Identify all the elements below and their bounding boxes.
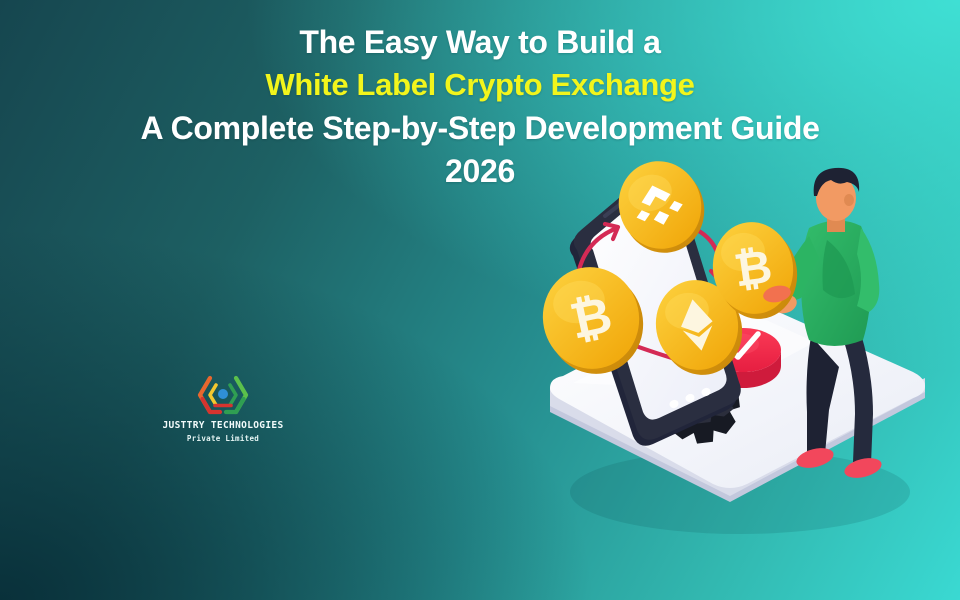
svg-text:₿: ₿ [731, 239, 776, 298]
logo-company-suffix: Private Limited [148, 434, 298, 443]
company-logo: JUSTTRY TECHNOLOGIES Private Limited [148, 374, 298, 443]
isometric-crypto-exchange-illustration: ₿ [525, 140, 960, 540]
headline-line-3: A Complete Step-by-Step Development Guid… [40, 112, 920, 144]
logo-company-name: JUSTTRY TECHNOLOGIES [148, 420, 298, 431]
bitcoin-held-glyph: ₿ [731, 239, 776, 298]
illustration-svg: ₿ [525, 140, 960, 540]
person-ear [844, 194, 854, 206]
headline-line-1: The Easy Way to Build a [40, 26, 920, 58]
headline-line-4-year: 2026 [40, 155, 920, 187]
headline-line-2-highlight: White Label Crypto Exchange [40, 69, 920, 100]
justtry-hex-bracket-logo-icon [193, 374, 253, 416]
headline-block: The Easy Way to Build a White Label Cryp… [0, 26, 960, 187]
banner-canvas: The Easy Way to Build a White Label Cryp… [0, 0, 960, 600]
